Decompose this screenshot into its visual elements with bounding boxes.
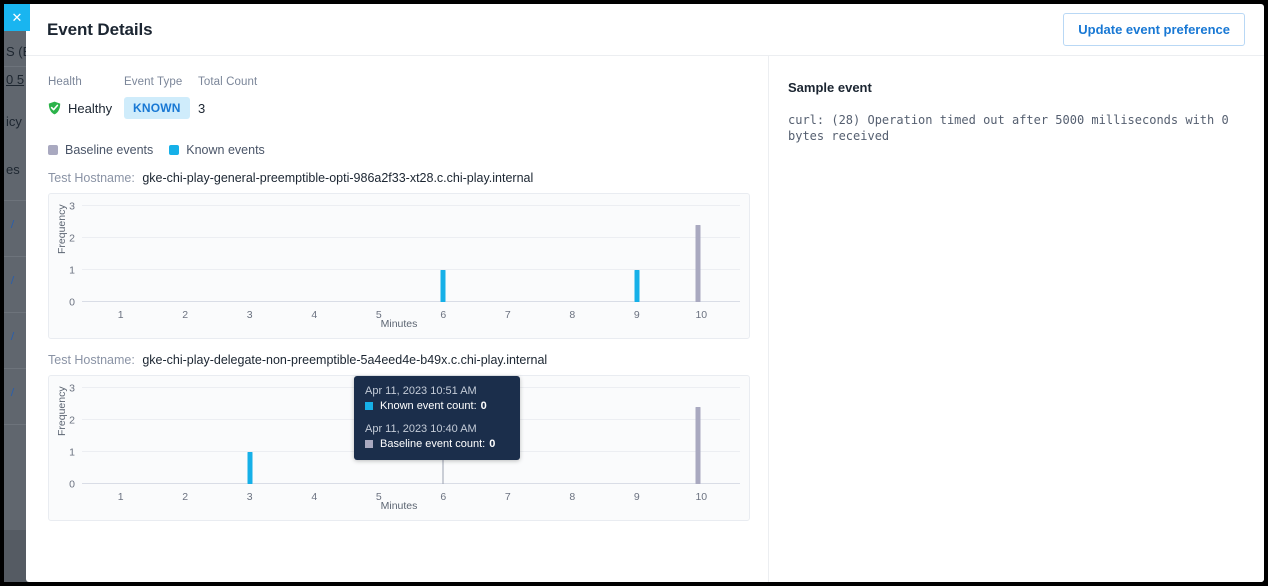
hostname-row-1: Test Hostname: gke-chi-play-delegate-non… [48, 353, 746, 367]
background-check-icon-3 [11, 332, 24, 340]
shield-check-icon [48, 101, 61, 115]
update-event-preference-button[interactable]: Update event preference [1063, 13, 1245, 46]
health-status-text: Healthy [68, 101, 112, 116]
hostname-label-1: Test Hostname: [48, 353, 135, 367]
total-count-value: 3 [198, 98, 257, 118]
event-type-label: Event Type [124, 76, 198, 88]
hostname-value-1: gke-chi-play-delegate-non-preemptible-5a… [142, 353, 547, 367]
y-axis-tick-label: 1 [69, 447, 75, 458]
chart-bar[interactable] [634, 270, 639, 302]
x-axis-title-1: Minutes [49, 500, 749, 512]
health-label: Health [48, 76, 124, 88]
left-pane: Health Healthy Event Typ [26, 56, 768, 582]
chart-bar[interactable] [441, 270, 446, 302]
legend-label-known: Known events [186, 143, 265, 157]
tooltip-known-row: Known event count: 0 [365, 400, 509, 412]
gridline [82, 205, 740, 206]
legend-item-known[interactable]: Known events [169, 143, 265, 157]
sample-event-title: Sample event [788, 80, 1242, 95]
background-text-fragment-2: 0 5 [6, 72, 24, 87]
background-check-icon-2 [11, 276, 24, 284]
y-axis-tick-label: 3 [69, 383, 75, 394]
page-title: Event Details [47, 20, 152, 40]
y-axis-tick-label: 3 [69, 201, 75, 212]
tooltip-known-time: Apr 11, 2023 10:51 AM [365, 385, 509, 397]
health-field: Health Healthy [48, 76, 124, 118]
tooltip-known-value: 0 [481, 400, 487, 412]
legend-swatch-baseline [48, 145, 58, 155]
background-check-icon-4 [11, 388, 24, 396]
tooltip-swatch-known [365, 402, 373, 410]
modal-header: Event Details Update event preference [26, 4, 1264, 56]
event-type-field: Event Type KNOWN [124, 76, 198, 118]
hostname-row-0: Test Hostname: gke-chi-play-general-pree… [48, 171, 746, 185]
tooltip-known-label: Known event count: [380, 400, 477, 412]
legend-swatch-known [169, 145, 179, 155]
y-axis-tick-label: 1 [69, 265, 75, 276]
total-count-field: Total Count 3 [198, 76, 257, 118]
chart-bar[interactable] [247, 452, 252, 484]
sample-event-text: curl: (28) Operation timed out after 500… [788, 112, 1236, 144]
chart-bar[interactable] [696, 225, 701, 302]
tooltip-baseline-time: Apr 11, 2023 10:40 AM [365, 423, 509, 435]
status-badge: KNOWN [124, 97, 190, 119]
legend-item-baseline[interactable]: Baseline events [48, 143, 153, 157]
y-axis-tick-label: 0 [69, 479, 75, 490]
chart-legend: Baseline events Known events [48, 143, 746, 157]
x-axis-line [82, 301, 740, 302]
screenshot-root: S (Ex 0 5 icy E es Event Details Update … [0, 0, 1268, 586]
hostname-label-0: Test Hostname: [48, 171, 135, 185]
y-axis-title-1: Frequency [56, 386, 68, 436]
x-axis-title-0: Minutes [49, 318, 749, 330]
modal-body: Health Healthy Event Typ [26, 56, 1264, 582]
gridline [82, 269, 740, 270]
gridline [82, 237, 740, 238]
x-axis-line [82, 483, 740, 484]
chart-block-0: Test Hostname: gke-chi-play-general-pree… [48, 171, 746, 339]
plot-area-0[interactable]: 012312345678910 [82, 206, 740, 302]
tooltip-swatch-baseline [365, 440, 373, 448]
tooltip-baseline-row: Baseline event count: 0 [365, 438, 509, 450]
legend-label-baseline: Baseline events [65, 143, 153, 157]
background-check-icon-1 [11, 220, 24, 228]
total-count-label: Total Count [198, 76, 257, 88]
chart-bar[interactable] [696, 407, 701, 484]
y-axis-tick-label: 2 [69, 415, 75, 426]
chart-tooltip: Apr 11, 2023 10:51 AM Known event count:… [354, 376, 520, 460]
hostname-value-0: gke-chi-play-general-preemptible-opti-98… [142, 171, 533, 185]
frequency-chart-0[interactable]: Frequency 012312345678910 Minutes [48, 193, 750, 339]
y-axis-title-0: Frequency [56, 204, 68, 254]
close-icon[interactable]: ✕ [4, 4, 30, 31]
y-axis-tick-label: 2 [69, 233, 75, 244]
tooltip-baseline-label: Baseline event count: [380, 438, 485, 450]
health-value-row: Healthy [48, 98, 124, 118]
event-meta-row: Health Healthy Event Typ [48, 76, 746, 118]
tooltip-baseline-value: 0 [489, 438, 495, 450]
y-axis-tick-label: 0 [69, 297, 75, 308]
event-type-value-row: KNOWN [124, 98, 198, 118]
background-text-fragment-4: es [6, 162, 20, 177]
right-pane: Sample event curl: (28) Operation timed … [769, 56, 1264, 582]
event-details-modal: Event Details Update event preference He… [26, 4, 1264, 582]
